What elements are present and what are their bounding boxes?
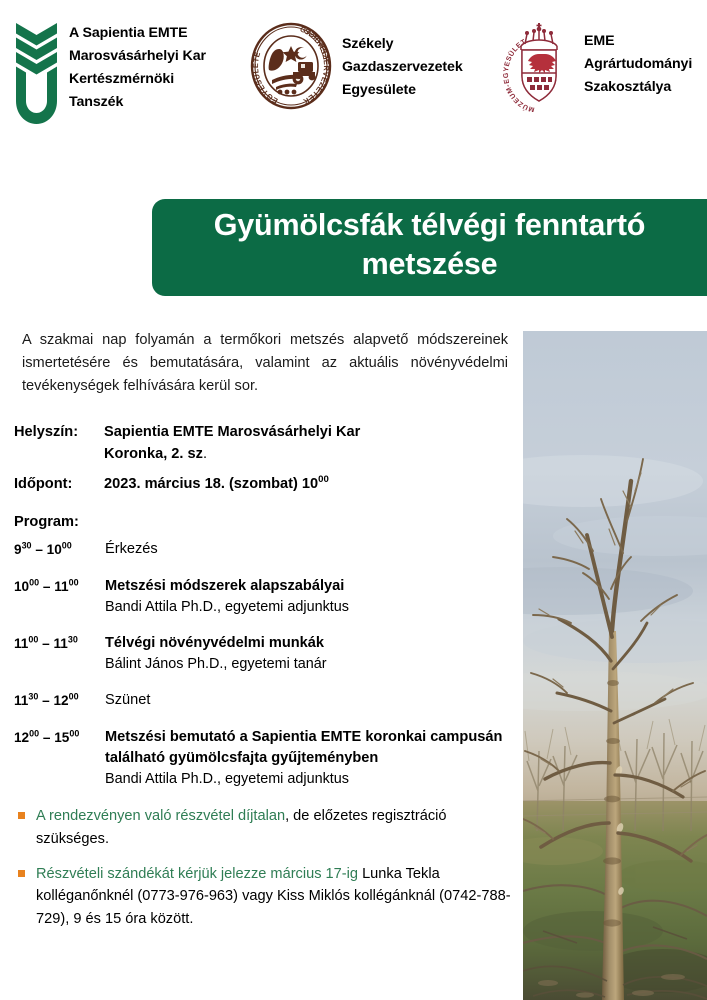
time-start: 11 — [14, 693, 28, 708]
time-separator: – — [35, 542, 43, 557]
title-banner: Gyümölcsfák télvégi fenntartó metszése — [152, 199, 707, 296]
time-end-minutes: 00 — [69, 577, 79, 587]
program-item-speaker: Bálint János Ph.D., egyetemi tanár — [105, 654, 512, 675]
program-item-title: Metszési bemutató a Sapientia EMTE koron… — [105, 727, 512, 769]
venue-line-1: Sapientia EMTE Marosvásárhelyi Kar — [104, 424, 360, 440]
time-start-minutes: 00 — [28, 635, 38, 645]
note-item: A rendezvényen való részvétel díjtalan, … — [14, 805, 512, 851]
bullet-square-icon — [18, 812, 25, 819]
page-title: Gyümölcsfák télvégi fenntartó metszése — [178, 206, 681, 283]
program-item-time: 1200 – 1500 — [14, 727, 105, 748]
note-highlight: Részvételi szándékát kérjük jelezze márc… — [36, 866, 358, 882]
program-item-body: Szünet — [105, 690, 512, 711]
program-item-speaker: Bandi Attila Ph.D., egyetemi adjunktus — [105, 769, 512, 790]
logo-eme: MÚZEUM-EGYESÜLET ERDÉLYI — [503, 20, 692, 112]
logo-sapientia: A Sapientia EMTE Marosvásárhelyi Kar Ker… — [14, 21, 206, 125]
program-item: 930 – 1000 Érkezés — [14, 539, 512, 560]
venue-line-2-suffix: . — [203, 446, 207, 462]
time-end-minutes: 00 — [62, 541, 72, 551]
time-separator: – — [42, 693, 50, 708]
program-item-speaker: Bandi Attila Ph.D., egyetemi adjunktus — [105, 597, 512, 618]
datetime-label: Időpont: — [14, 473, 104, 496]
time-separator: – — [43, 730, 51, 745]
program-list: 930 – 1000 Érkezés 1000 – 1100 Metszési … — [14, 539, 512, 790]
note-item: Részvételi szándékát kérjük jelezze márc… — [14, 863, 512, 931]
time-start: 9 — [14, 542, 22, 557]
program-item-time: 1130 – 1200 — [14, 690, 105, 711]
program-item-body: Metszési bemutató a Sapientia EMTE koron… — [105, 727, 512, 790]
time-end: 11 — [54, 579, 68, 594]
datetime-minutes: 00 — [318, 474, 329, 485]
time-end-minutes: 30 — [68, 635, 78, 645]
venue-value: Sapientia EMTE Marosvásárhelyi Kar Koron… — [104, 421, 360, 466]
venue-label: Helyszín: — [14, 421, 104, 444]
time-start: 10 — [14, 579, 29, 594]
program-item-body: Metszési módszerek alapszabályai Bandi A… — [105, 576, 512, 618]
program-item-time: 930 – 1000 — [14, 539, 105, 560]
logo-szekely-gazdaszervezetek: GAZDASZERVEZETEK EGYESÜLETE SZÉKELY — [250, 22, 463, 110]
time-start-minutes: 00 — [29, 577, 39, 587]
time-end: 11 — [53, 636, 67, 651]
notes-list: A rendezvényen való részvétel díjtalan, … — [14, 805, 512, 931]
program-heading: Program: — [14, 514, 512, 530]
datetime-main: 2023. március 18. (szombat) 10 — [104, 476, 318, 492]
detail-row-venue: Helyszín: Sapientia EMTE Marosvásárhelyi… — [14, 421, 512, 466]
logo-eme-label: EME Agrártudományi Szakosztálya — [584, 30, 692, 99]
main-content: A szakmai nap folyamán a termőkori metsz… — [14, 329, 512, 943]
time-end-minutes: 00 — [69, 692, 79, 702]
program-item: 1130 – 1200 Szünet — [14, 690, 512, 711]
bullet-square-icon — [18, 870, 25, 877]
eme-erdelyi-muzeum-egyesulet-crest-icon: MÚZEUM-EGYESÜLET ERDÉLYI — [503, 20, 575, 112]
intro-paragraph: A szakmai nap folyamán a termőkori metsz… — [14, 329, 512, 399]
program-item-title: Metszési módszerek alapszabályai — [105, 576, 512, 597]
program-item: 1200 – 1500 Metszési bemutató a Sapienti… — [14, 727, 512, 790]
note-highlight: A rendezvényen való részvétel díjtalan — [36, 808, 285, 824]
time-start-minutes: 30 — [22, 541, 32, 551]
note-item-text: Részvételi szándékát kérjük jelezze márc… — [36, 863, 512, 931]
time-separator: – — [42, 636, 50, 651]
time-start: 11 — [14, 636, 28, 651]
time-end: 12 — [53, 693, 68, 708]
time-start: 12 — [14, 730, 29, 745]
time-start-minutes: 30 — [28, 692, 38, 702]
sapientia-tulip-logo-icon — [14, 21, 60, 125]
header-logos: A Sapientia EMTE Marosvásárhelyi Kar Ker… — [0, 0, 707, 140]
program-item: 1000 – 1100 Metszési módszerek alapszabá… — [14, 576, 512, 618]
program-item-time: 1000 – 1100 — [14, 576, 105, 597]
szekely-gazdaszervezetek-seal-icon: GAZDASZERVEZETEK EGYESÜLETE SZÉKELY — [250, 22, 332, 110]
program-item-time: 1100 – 1130 — [14, 633, 105, 654]
program-item-title: Érkezés — [105, 539, 512, 560]
event-details: Helyszín: Sapientia EMTE Marosvásárhelyi… — [14, 421, 512, 496]
program-item-body: Télvégi növényvédelmi munkák Bálint Jáno… — [105, 633, 512, 675]
program-item-title: Szünet — [105, 690, 512, 711]
logo-szekely-label: Székely Gazdaszervezetek Egyesülete — [342, 33, 463, 102]
orchard-tree-photo — [523, 331, 707, 1000]
program-item-title: Télvégi növényvédelmi munkák — [105, 633, 512, 654]
venue-line-2: Koronka, 2. sz — [104, 446, 203, 462]
time-end-minutes: 00 — [69, 728, 79, 738]
note-item-text: A rendezvényen való részvétel díjtalan, … — [36, 805, 512, 851]
program-item: 1100 – 1130 Télvégi növényvédelmi munkák… — [14, 633, 512, 675]
datetime-value: 2023. március 18. (szombat) 1000 — [104, 473, 329, 496]
time-end: 10 — [47, 542, 62, 557]
logo-sapientia-label: A Sapientia EMTE Marosvásárhelyi Kar Ker… — [69, 22, 206, 114]
time-separator: – — [43, 579, 51, 594]
program-item-body: Érkezés — [105, 539, 512, 560]
detail-row-datetime: Időpont: 2023. március 18. (szombat) 100… — [14, 473, 512, 496]
time-start-minutes: 00 — [29, 728, 39, 738]
time-end: 15 — [54, 730, 69, 745]
